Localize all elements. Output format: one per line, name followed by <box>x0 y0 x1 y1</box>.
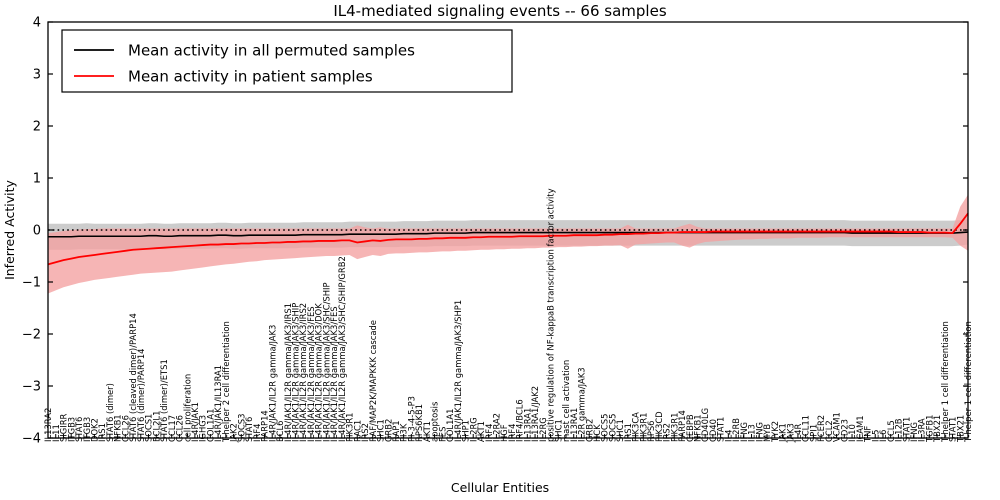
legend-label-1: Mean activity in patient samples <box>128 68 373 86</box>
y-tick-label: 1 <box>33 172 41 187</box>
y-tick-label: −4 <box>22 432 41 447</box>
y-tick-label: −1 <box>22 276 41 291</box>
chart-canvas: IL4-mediated signaling events -- 66 samp… <box>0 0 1000 500</box>
y-tick-label: 0 <box>33 224 41 239</box>
y-tick-label: −3 <box>22 380 41 395</box>
x-tick-label: positive regulation of NF-kappaB transcr… <box>546 188 556 442</box>
y-axis-label: Inferred Activity <box>2 179 17 279</box>
legend-label-0: Mean activity in all permuted samples <box>128 42 415 60</box>
y-tick-label: 2 <box>33 120 41 135</box>
x-axis-label: Cellular Entities <box>451 480 549 495</box>
chart-legend: Mean activity in all permuted samplesMea… <box>62 30 512 92</box>
y-tick-label: −2 <box>22 328 41 343</box>
y-tick-label: 4 <box>33 16 41 31</box>
chart-figure: IL4-mediated signaling events -- 66 samp… <box>0 0 1000 500</box>
y-tick-label: 3 <box>33 68 41 83</box>
x-tick-label: T-helper 1 cell differentiation <box>963 321 973 443</box>
chart-title: IL4-mediated signaling events -- 66 samp… <box>333 2 666 20</box>
